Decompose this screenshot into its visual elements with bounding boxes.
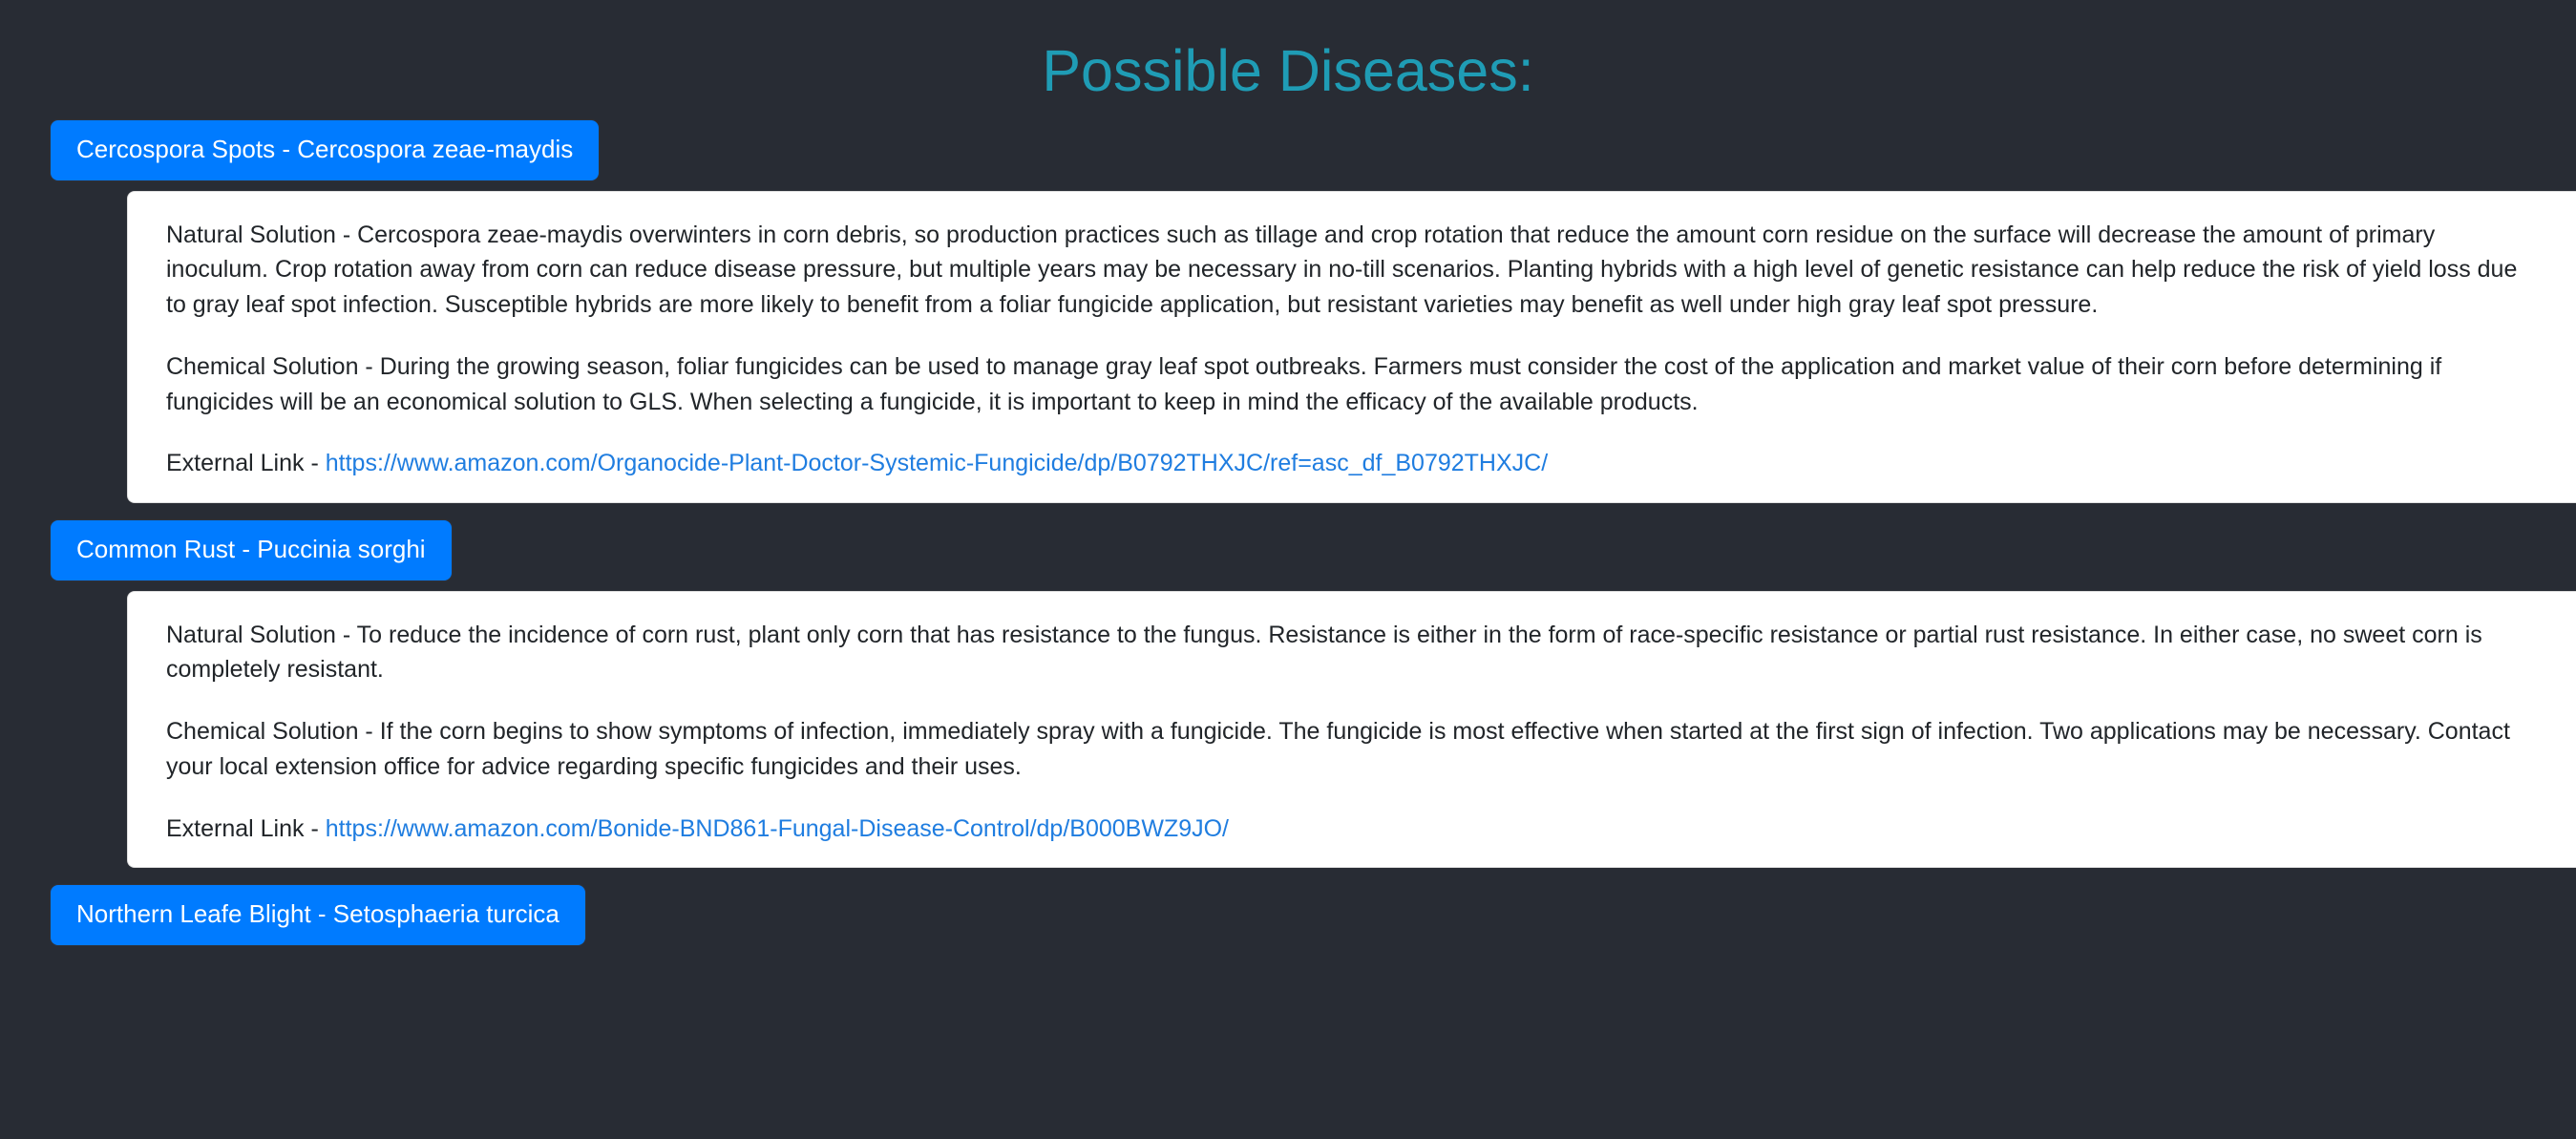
disease-block: Cercospora Spots - Cercospora zeae-maydi… <box>0 120 2576 503</box>
chemical-solution-text: Chemical Solution - If the corn begins t… <box>166 714 2538 785</box>
block-spacer <box>0 503 2576 520</box>
external-link-label: External Link - <box>166 815 326 842</box>
page-root: Possible Diseases: Cercospora Spots - Ce… <box>0 0 2576 1139</box>
disease-panel-common-rust: Natural Solution - To reduce the inciden… <box>127 591 2576 869</box>
disease-accordion-list: Cercospora Spots - Cercospora zeae-maydi… <box>0 120 2576 945</box>
external-link-label: External Link - <box>166 450 326 476</box>
disease-block: Common Rust - Puccinia sorghi Natural So… <box>0 520 2576 868</box>
disease-panel-cercospora-spots: Natural Solution - Cercospora zeae-maydi… <box>127 191 2576 504</box>
disease-toggle-cercospora-spots[interactable]: Cercospora Spots - Cercospora zeae-maydi… <box>51 120 599 180</box>
chemical-solution-text: Chemical Solution - During the growing s… <box>166 349 2538 420</box>
disease-toggle-northern-leafe-blight[interactable]: Northern Leafe Blight - Setosphaeria tur… <box>51 885 585 945</box>
external-link-row: External Link - https://www.amazon.com/B… <box>166 812 2538 847</box>
disease-block: Northern Leafe Blight - Setosphaeria tur… <box>0 885 2576 945</box>
external-link-row: External Link - https://www.amazon.com/O… <box>166 446 2538 481</box>
natural-solution-text: Natural Solution - To reduce the inciden… <box>166 618 2538 688</box>
block-spacer <box>0 868 2576 885</box>
external-link[interactable]: https://www.amazon.com/Bonide-BND861-Fun… <box>326 815 1229 842</box>
page-title: Possible Diseases: <box>0 0 2576 100</box>
external-link[interactable]: https://www.amazon.com/Organocide-Plant-… <box>326 450 1548 476</box>
disease-toggle-common-rust[interactable]: Common Rust - Puccinia sorghi <box>51 520 452 580</box>
natural-solution-text: Natural Solution - Cercospora zeae-maydi… <box>166 218 2538 323</box>
